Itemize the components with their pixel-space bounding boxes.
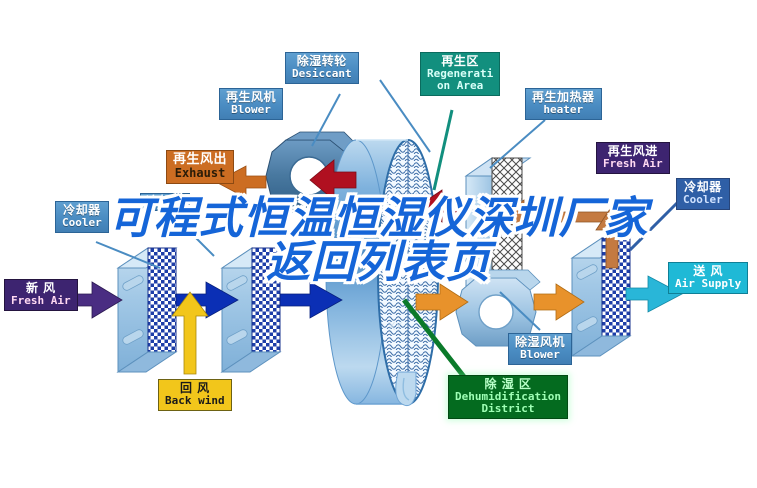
- label-regen-area-cn: 再生区: [427, 55, 493, 68]
- label-desiccant[interactable]: 除湿转轮 Desiccant: [285, 52, 359, 84]
- label-dehum-blower-en: Blower: [515, 349, 565, 361]
- svg-text:XY: XY: [388, 320, 403, 333]
- label-cooler-left-en: Cooler: [62, 217, 102, 229]
- label-regen-heater[interactable]: 再生加热器 heater: [525, 88, 602, 120]
- label-exhaust[interactable]: 再生风出 Exhaust: [166, 150, 234, 184]
- label-cooler-right[interactable]: 冷却器 Cooler: [676, 178, 730, 210]
- label-back-wind-en: Back wind: [165, 395, 225, 407]
- condensate-drain: [396, 372, 416, 406]
- cooler-coil-1: [118, 248, 176, 372]
- label-cooler-left[interactable]: 冷却器 Cooler: [55, 201, 109, 233]
- label-regen-area-en2: on Area: [427, 80, 493, 92]
- label-back-wind[interactable]: 回 风 Back wind: [158, 379, 232, 411]
- label-air-supply-cn: 送 风: [675, 265, 741, 278]
- label-cooler-right-cn: 冷却器: [683, 181, 723, 194]
- label-regen-fresh-air-en: Fresh Air: [603, 158, 663, 170]
- label-desiccant-en: Desiccant: [292, 68, 352, 80]
- diagram-canvas: XY: [0, 0, 757, 488]
- label-regen-blower[interactable]: 再生风机 Blower: [219, 88, 283, 120]
- label-regen-fresh-air-cn: 再生风进: [603, 145, 663, 158]
- label-dehum-blower[interactable]: 除湿风机 Blower: [508, 333, 572, 365]
- label-dehum-district-cn: 除 湿 区: [455, 378, 561, 391]
- label-regen-area[interactable]: 再生区 Regenerati on Area: [420, 52, 500, 96]
- label-regen-blower-en: Blower: [226, 104, 276, 116]
- label-desiccant-cn: 除湿转轮: [292, 55, 352, 68]
- label-fresh-air-en: Fresh Air: [11, 295, 71, 307]
- label-fresh-air-cn: 新 风: [11, 282, 71, 295]
- label-regen-heater-cn: 再生加热器: [532, 91, 595, 104]
- label-fresh-air[interactable]: 新 风 Fresh Air: [4, 279, 78, 311]
- label-cooler-mid[interactable]: 冷却器: [140, 193, 190, 211]
- label-cooler-mid-cn: 冷却器: [146, 195, 184, 208]
- diagram-graphics: XY: [0, 0, 757, 488]
- cooler-coil-2: [222, 248, 280, 372]
- cooler-coil-3: [572, 238, 630, 356]
- label-dehum-blower-cn: 除湿风机: [515, 336, 565, 349]
- label-regen-heater-en: heater: [532, 104, 595, 116]
- label-cooler-left-cn: 冷却器: [62, 204, 102, 217]
- label-dehum-district-en2: District: [455, 403, 561, 415]
- label-regen-fresh-air[interactable]: 再生风进 Fresh Air: [596, 142, 670, 174]
- label-regen-blower-cn: 再生风机: [226, 91, 276, 104]
- label-dehum-district[interactable]: 除 湿 区 Dehumidification District: [448, 375, 568, 419]
- label-air-supply[interactable]: 送 风 Air Supply: [668, 262, 748, 294]
- label-back-wind-cn: 回 风: [165, 382, 225, 395]
- label-exhaust-en: Exhaust: [173, 167, 227, 180]
- label-cooler-right-en: Cooler: [683, 194, 723, 206]
- label-exhaust-cn: 再生风出: [173, 153, 227, 167]
- label-air-supply-en: Air Supply: [675, 278, 741, 290]
